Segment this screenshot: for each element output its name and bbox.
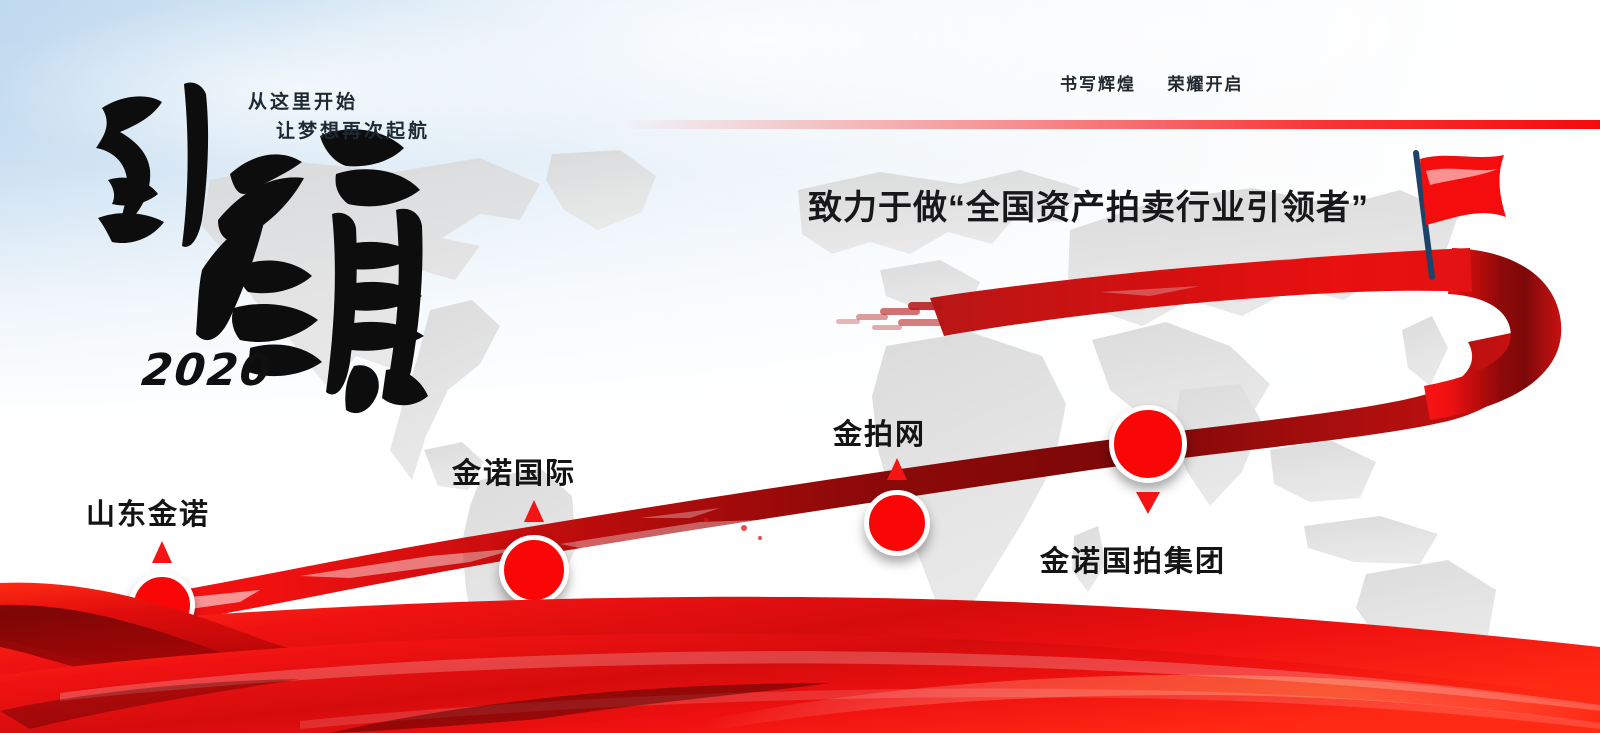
red-silk-ribbon-icon — [0, 543, 1600, 733]
milestone-label-1: 山东金诺 — [86, 491, 210, 533]
milestone-label-3: 金拍网 — [833, 411, 926, 453]
poster-canvas: 2020 从这里开始 让梦想再次起航 书写辉煌 荣耀开启 致力于做“全国资产拍卖… — [0, 0, 1600, 733]
milestone-arrow-up-3 — [887, 458, 907, 480]
milestone-arrow-down-4 — [1136, 492, 1160, 514]
milestone-label-2: 金诺国际 — [452, 450, 576, 492]
milestone-arrow-up-2 — [524, 500, 544, 522]
milestone-dot-4[interactable] — [1109, 405, 1187, 483]
